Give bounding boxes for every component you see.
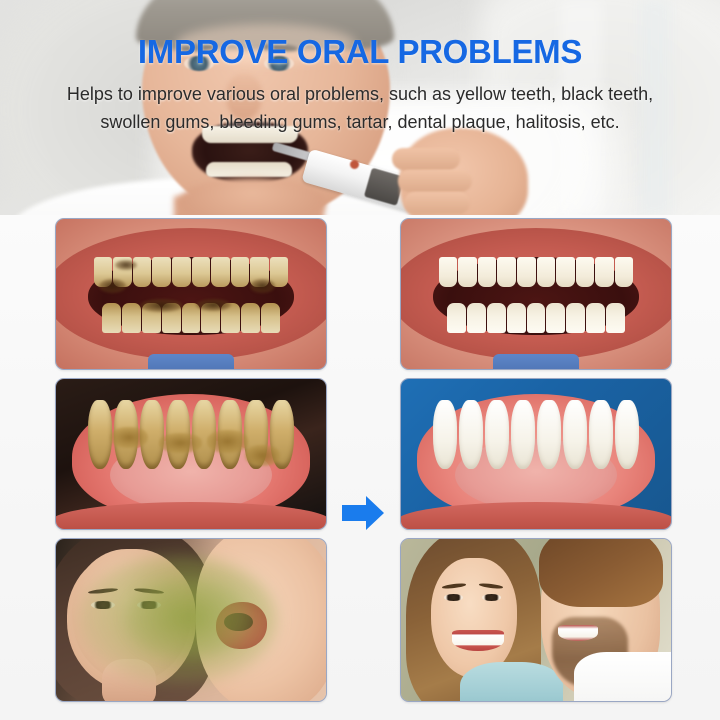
man-hair [539, 538, 663, 607]
before-bad-breath-photo [56, 539, 326, 701]
blue-dental-bib [493, 354, 579, 370]
before-after-grid [0, 215, 720, 720]
lower-lip [400, 502, 672, 530]
tooth-stain [99, 279, 126, 293]
woman-smile [452, 630, 503, 651]
before-image-card [55, 218, 327, 370]
lower-teeth-row [447, 303, 625, 333]
tartar-deposit [245, 445, 280, 466]
after-clean-teeth-photo [401, 219, 671, 369]
after-image-card [400, 378, 672, 530]
lower-teeth-row [102, 303, 280, 333]
tartar-deposit [110, 427, 148, 448]
woman-clothing [460, 662, 563, 702]
comparison-row [0, 378, 720, 528]
page-title: IMPROVE ORAL PROBLEMS [0, 30, 720, 74]
after-image-card [400, 218, 672, 370]
comparison-row [0, 538, 720, 700]
hero-banner: IMPROVE ORAL PROBLEMS Helps to improve v… [0, 0, 720, 215]
finger [392, 148, 460, 170]
before-tartar-buildup-photo [56, 379, 326, 529]
woman-face [431, 558, 517, 678]
tartar-deposit [159, 433, 202, 453]
before-image-card [55, 538, 327, 702]
comparison-row [0, 218, 720, 368]
woman-eye [482, 594, 501, 600]
tooth-stain [140, 299, 183, 313]
lower-lip [55, 502, 327, 530]
scaler-indicator-light [350, 160, 359, 169]
blue-dental-bib [148, 354, 234, 370]
woman-eye [444, 594, 463, 600]
tartar-deposit [207, 430, 248, 453]
page-subtitle: Helps to improve various oral problems, … [36, 80, 684, 136]
before-stained-teeth-photo [56, 219, 326, 369]
tooth-stain [196, 299, 231, 311]
product-infographic-page: IMPROVE ORAL PROBLEMS Helps to improve v… [0, 0, 720, 720]
finger [404, 192, 470, 214]
man-shirt [574, 652, 672, 702]
finger [398, 170, 472, 192]
after-tartar-removed-photo [401, 379, 671, 529]
upper-teeth-row [439, 257, 633, 287]
upper-teeth-row [433, 400, 638, 469]
after-fresh-breath-couple-photo [401, 539, 671, 701]
before-image-card [55, 378, 327, 530]
tooth-stain [115, 260, 137, 271]
man-smile [558, 625, 599, 641]
after-image-card [400, 538, 672, 702]
bad-breath-cloud [126, 578, 250, 659]
tooth-stain [250, 279, 274, 293]
